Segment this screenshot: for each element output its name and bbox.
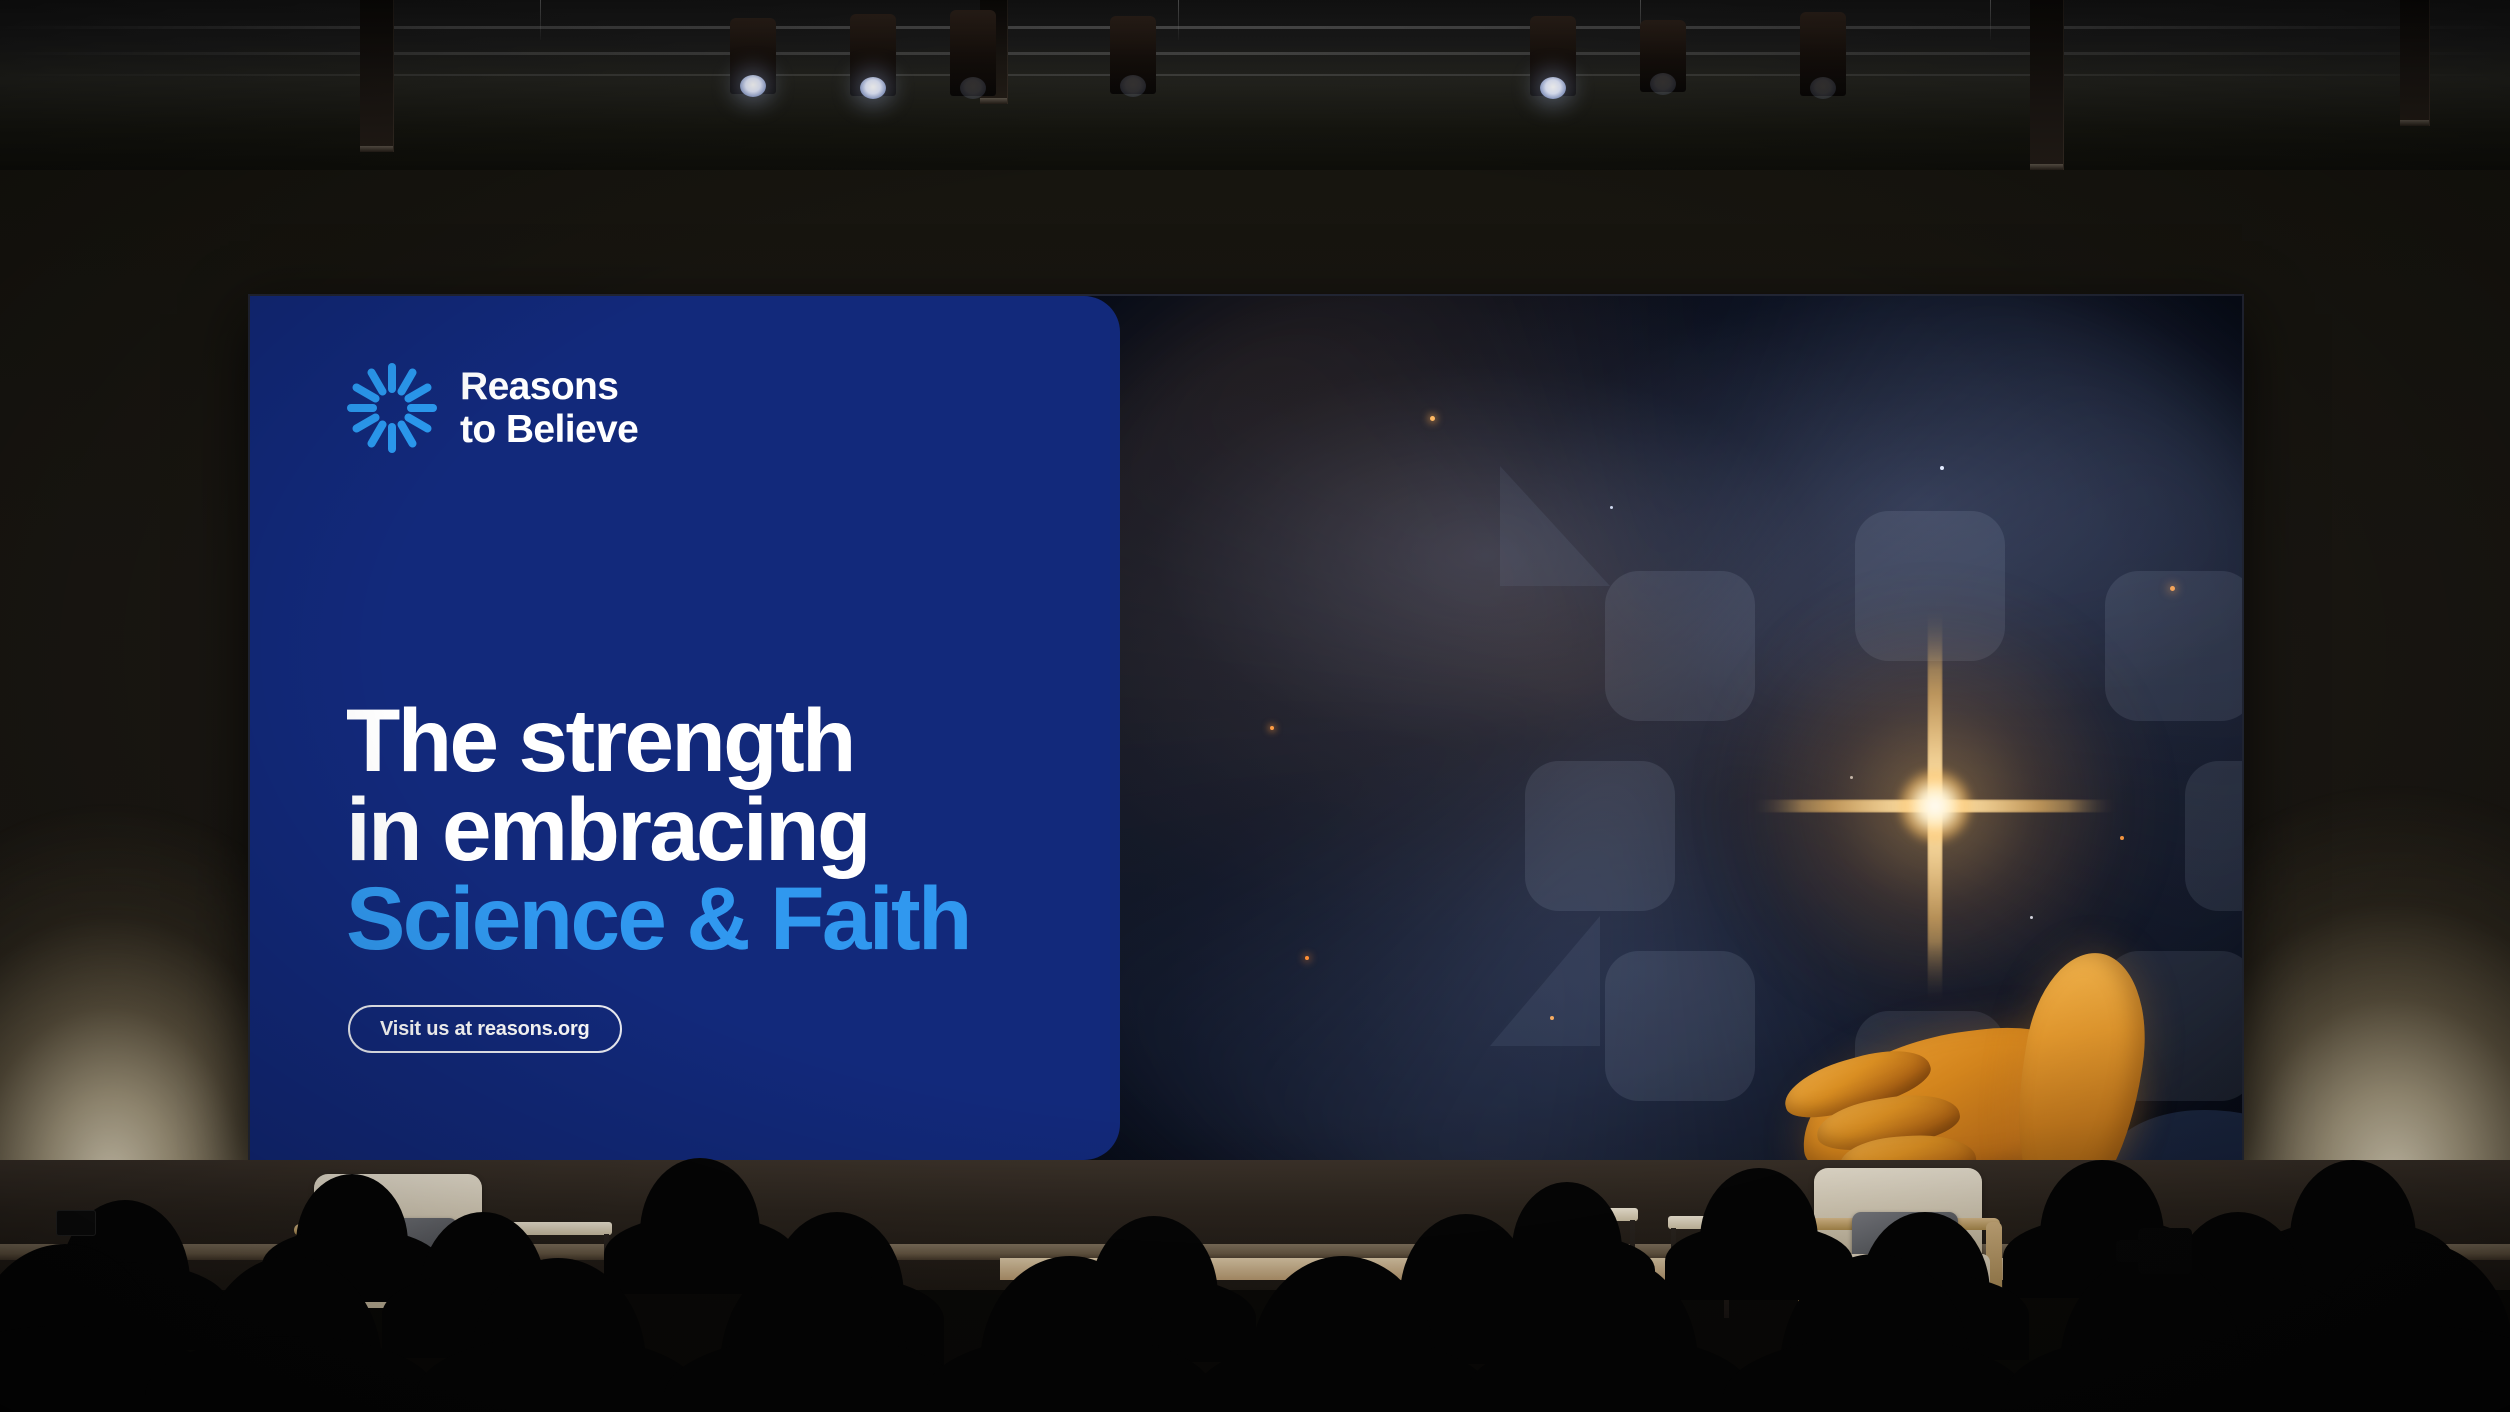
star-core [1900,771,1970,841]
lamp-icon [860,77,886,99]
star-speck [1270,726,1274,730]
slide-blue-panel: Reasons to Believe The strength in embra… [250,296,1120,1160]
burst-wedge [1490,916,1600,1046]
ceiling-truss-area [0,0,2510,180]
stage-light-fixture [1530,16,1576,96]
stage-light-fixture [850,14,896,96]
camera-held-up-icon [2138,1228,2192,1274]
stage-light-fixture [1800,12,1846,96]
lamp-icon [1810,77,1836,99]
hanging-wire [1990,0,1991,40]
lamp-icon [740,75,766,97]
lamp-icon [1650,73,1676,95]
star-speck [1940,466,1944,470]
brand-wordmark: Reasons to Believe [460,365,638,451]
audience-silhouettes [0,1082,2510,1412]
slide-headline: The strength in embracing Science & Fait… [346,696,1086,963]
visit-website-pill[interactable]: Visit us at reasons.org [348,1005,622,1053]
star-speck [1430,416,1435,421]
stage-light-fixture [730,18,776,94]
headline-line-1: The strength [346,696,1086,785]
stage-light-fixture [1110,16,1156,94]
stage-light-fixture [1640,20,1686,92]
lamp-icon [1120,75,1146,97]
ceiling-pillar [2400,0,2430,126]
stage-light-fixture [950,10,996,96]
audience-head [1700,1168,1818,1292]
lamp-icon [960,77,986,99]
ceiling-pillar [2030,0,2064,170]
lamp-icon [1540,77,1566,99]
radial-burst-icon [346,362,438,454]
ceiling-pillar [360,0,394,152]
burst-wedge [1500,466,1610,586]
star-speck [1610,506,1613,509]
audience-head [640,1158,760,1286]
hanging-wire [540,0,541,40]
led-presentation-screen[interactable]: Reasons to Believe The strength in embra… [250,296,2242,1160]
auditorium-scene: Reasons to Believe The strength in embra… [0,0,2510,1412]
headline-line-3: Science & Faith [346,874,1086,963]
hanging-wire [1178,0,1179,40]
star-speck [1305,956,1309,960]
phone-held-up-icon [56,1210,96,1236]
headline-line-2: in embracing [346,785,1086,874]
brand-lockup: Reasons to Believe [346,362,638,454]
